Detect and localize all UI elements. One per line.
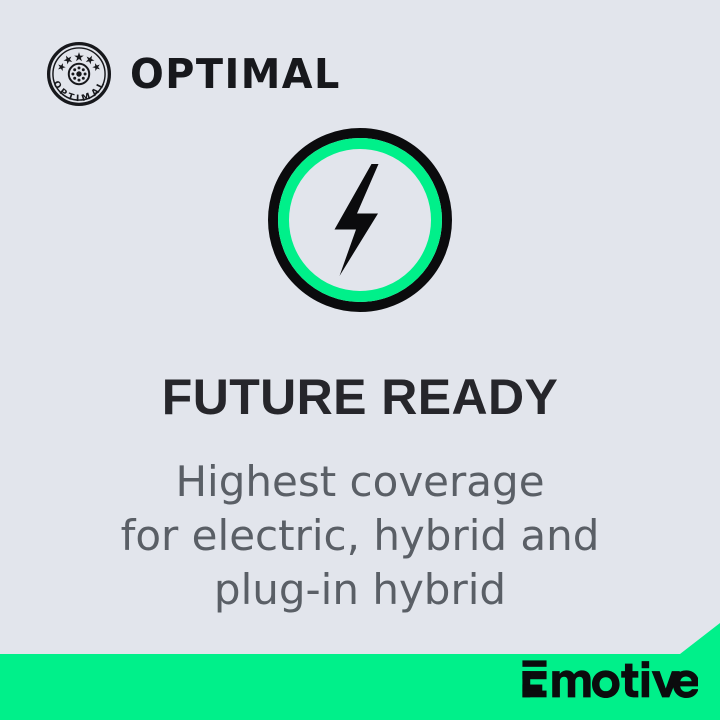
poster-canvas: OPTIMAL OPTIMAL bbox=[0, 0, 720, 720]
page-title: FUTURE READY bbox=[0, 371, 720, 424]
optimal-wheel-emblem-icon: OPTIMAL bbox=[46, 41, 112, 107]
subtitle-block: Highest coverage for electric, hybrid an… bbox=[0, 455, 720, 616]
brand-wordmark: OPTIMAL bbox=[130, 54, 341, 95]
subtitle-line: Highest coverage bbox=[0, 455, 720, 509]
footer-band bbox=[0, 620, 720, 720]
subtitle-line: plug-in hybrid bbox=[0, 563, 720, 617]
brand-lockup: OPTIMAL OPTIMAL bbox=[46, 41, 347, 107]
subtitle-line: for electric, hybrid and bbox=[0, 509, 720, 563]
lightning-bolt-in-circle-icon bbox=[268, 128, 452, 312]
